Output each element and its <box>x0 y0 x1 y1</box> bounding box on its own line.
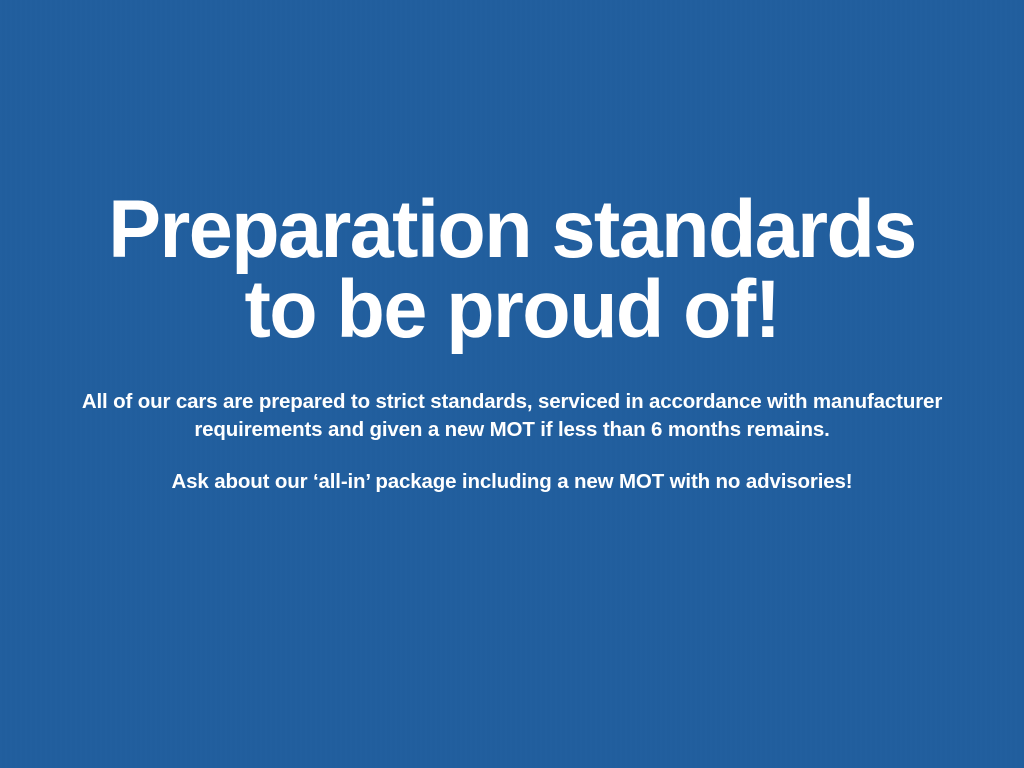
slide-content: Preparation standards to be proud of! Al… <box>0 0 1024 497</box>
slide-canvas: Preparation standards to be proud of! Al… <box>0 0 1024 768</box>
page-title-line-2: to be proud of! <box>57 270 968 350</box>
body-paragraph-preparation-standards: All of our cars are prepared to strict s… <box>72 388 952 445</box>
body-paragraph-all-in-package: Ask about our ‘all-in’ package including… <box>62 468 962 496</box>
body-copy: All of our cars are prepared to strict s… <box>40 388 984 497</box>
page-title-line-1: Preparation standards <box>57 190 968 270</box>
page-title: Preparation standards to be proud of! <box>40 190 984 351</box>
